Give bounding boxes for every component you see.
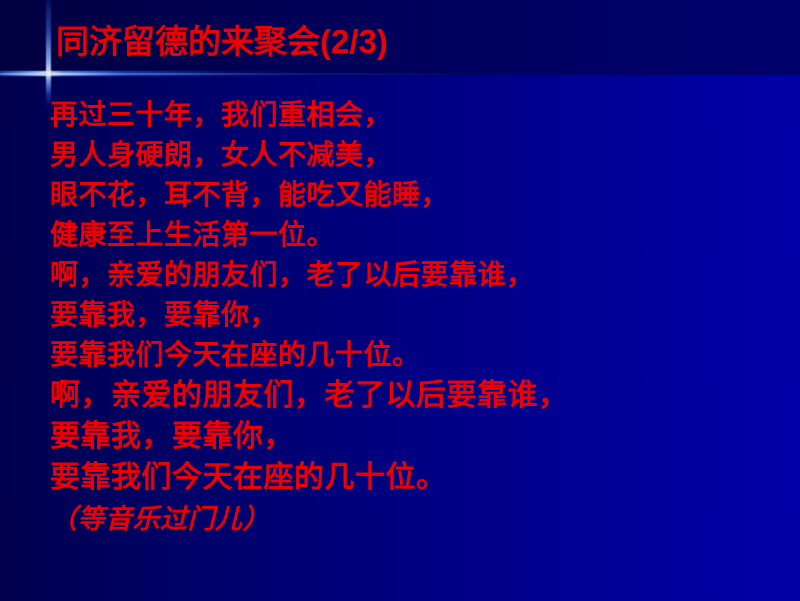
slide-title: 同济留德的来聚会(2/3) <box>56 22 388 62</box>
lyric-line: 眼不花，耳不背，能吃又能睡， <box>50 175 790 215</box>
lyric-line: 男人身硬朗，女人不减美， <box>50 135 790 175</box>
star-sparkle-icon <box>44 69 53 78</box>
lyric-line: 啊，亲爱的朋友们，老了以后要靠谁， <box>50 255 790 295</box>
lyric-line: 要靠我们今天在座的几十位。 <box>50 335 790 375</box>
lyric-line: 健康至上生活第一位。 <box>50 215 790 255</box>
lyric-line-stage-direction: （等音乐过门儿） <box>50 498 790 540</box>
lyric-line: 要靠我们今天在座的几十位。 <box>50 457 790 498</box>
lyric-line: 要靠我，要靠你， <box>50 416 790 457</box>
vertical-glow-line-icon <box>46 0 51 108</box>
lyric-line: 要靠我，要靠你， <box>50 295 790 335</box>
horizontal-glow-line-thin-icon <box>0 73 800 75</box>
lyric-line: 啊，亲爱的朋友们，老了以后要靠谁， <box>50 375 790 416</box>
lyric-line: 再过三十年，我们重相会， <box>50 95 790 135</box>
presentation-slide: 同济留德的来聚会(2/3) 再过三十年，我们重相会， 男人身硬朗，女人不减美， … <box>0 0 800 601</box>
slide-body-text: 再过三十年，我们重相会， 男人身硬朗，女人不减美， 眼不花，耳不背，能吃又能睡，… <box>50 95 790 540</box>
